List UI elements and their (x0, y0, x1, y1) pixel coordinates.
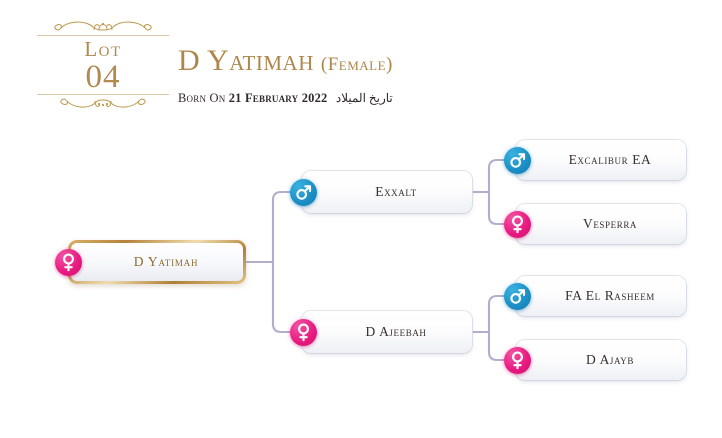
venus-female-icon (290, 319, 317, 346)
venus-female-icon (504, 347, 531, 374)
pedigree-node-sire[interactable]: Exxalt (302, 171, 472, 213)
pedigree-node-grandsire-maternal[interactable]: FA El Rasheem (516, 276, 686, 316)
pedigree-node-grandsire-paternal[interactable]: Excalibur EA (516, 140, 686, 180)
pedigree-node-label: FA El Rasheem (547, 288, 655, 304)
pedigree-node-label: Exxalt (357, 184, 417, 200)
mars-male-icon (504, 283, 531, 310)
pedigree-node-label: D Ajeebah (347, 324, 426, 340)
pedigree-node-subject[interactable]: D Yatimah (68, 240, 246, 284)
venus-female-icon (55, 249, 82, 276)
pedigree-node-label: Vesperra (565, 216, 637, 232)
pedigree-tree: D Yatimah Exxalt D Ajeebah (0, 0, 722, 438)
pedigree-node-label: D Ajayb (568, 352, 634, 368)
pedigree-node-dam[interactable]: D Ajeebah (302, 311, 472, 353)
pedigree-node-granddam-maternal[interactable]: D Ajayb (516, 340, 686, 380)
mars-male-icon (504, 147, 531, 174)
pedigree-node-label: Excalibur EA (551, 152, 652, 168)
pedigree-node-label: D Yatimah (116, 254, 199, 270)
mars-male-icon (290, 179, 317, 206)
venus-female-icon (504, 211, 531, 238)
pedigree-node-granddam-paternal[interactable]: Vesperra (516, 204, 686, 244)
